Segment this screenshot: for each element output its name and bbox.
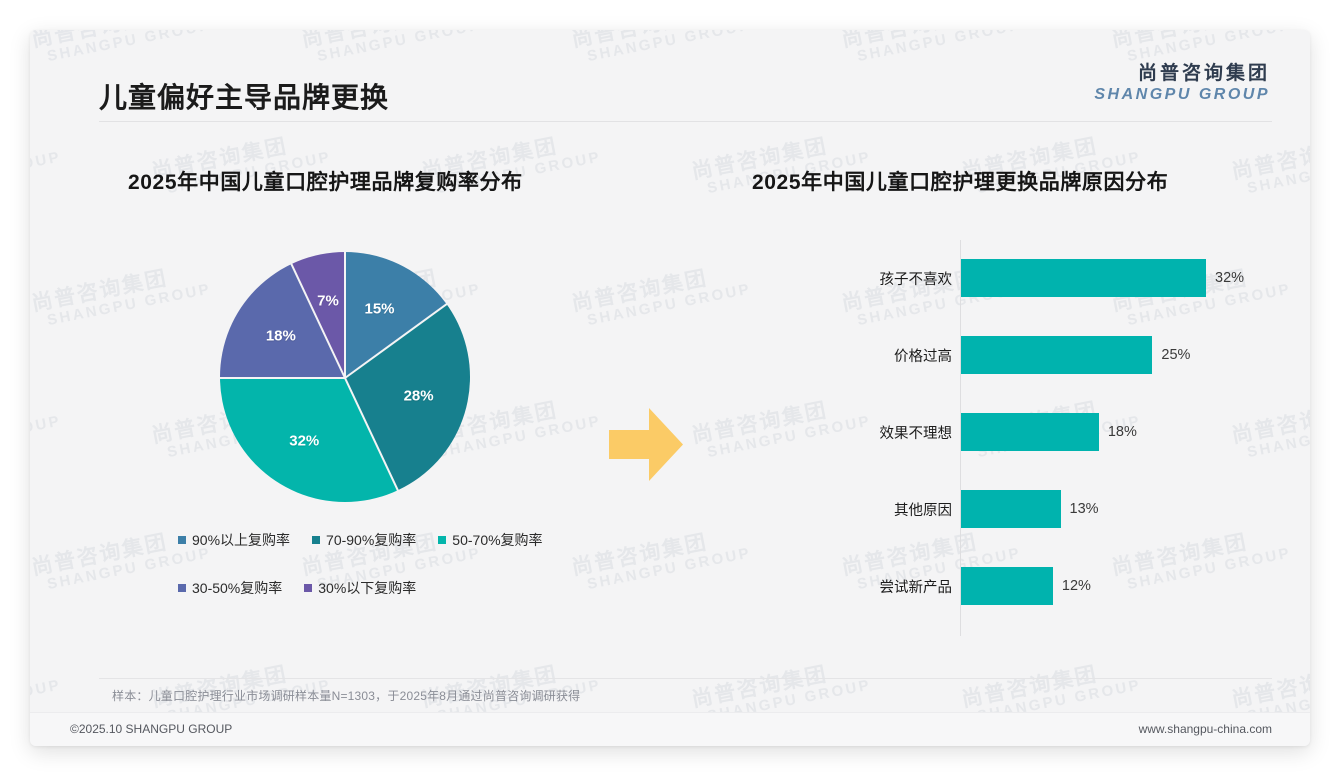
bar-fill[interactable]: [961, 336, 1152, 374]
legend-label: 50-70%复购率: [452, 530, 542, 550]
legend-color-swatch: [438, 536, 446, 544]
legend-label: 70-90%复购率: [326, 530, 416, 550]
bar-chart-row: 尝试新产品12%: [920, 566, 1290, 606]
pie-legend-row: 30-50%复购率30%以下复购率: [178, 578, 618, 598]
pie-legend: 90%以上复购率70-90%复购率50-70%复购率30-50%复购率30%以下…: [178, 530, 618, 626]
bar-category-label: 孩子不喜欢: [792, 268, 952, 289]
slide-body: 2025年中国儿童口腔护理品牌复购率分布 15%28%32%18%7% 90%以…: [30, 122, 1310, 682]
pie-chart: 15%28%32%18%7%: [220, 252, 470, 502]
logo-english-text: SHANGPU GROUP: [1094, 86, 1270, 104]
bar-chart-row: 其他原因13%: [920, 489, 1290, 529]
bar-chart: 孩子不喜欢32%价格过高25%效果不理想18%其他原因13%尝试新产品12%: [920, 240, 1290, 640]
legend-color-swatch: [312, 536, 320, 544]
bar-fill[interactable]: [961, 490, 1061, 528]
footer-website: www.shangpu-china.com: [1139, 722, 1272, 736]
pie-legend-item[interactable]: 50-70%复购率: [438, 530, 542, 550]
brand-logo: 尚普咨询集团 SHANGPU GROUP: [1094, 58, 1270, 104]
bar-value-label: 13%: [1070, 501, 1099, 517]
note-divider: [99, 678, 1272, 679]
bar-value-label: 18%: [1108, 424, 1137, 440]
header-divider: [99, 121, 1272, 122]
pie-legend-item[interactable]: 70-90%复购率: [312, 530, 416, 550]
pie-slice-label: 32%: [289, 433, 319, 450]
bar-category-label: 其他原因: [792, 499, 952, 520]
bar-chart-title: 2025年中国儿童口腔护理更换品牌原因分布: [752, 166, 1168, 196]
sample-note: 样本：儿童口腔护理行业市场调研样本量N=1303，于2025年8月通过尚普咨询调…: [112, 687, 580, 704]
bar-fill[interactable]: [961, 567, 1053, 605]
bar-category-label: 尝试新产品: [792, 576, 952, 597]
bar-category-label: 效果不理想: [792, 422, 952, 443]
pie-legend-item[interactable]: 30-50%复购率: [178, 578, 282, 598]
bar-value-label: 12%: [1062, 578, 1091, 594]
legend-color-swatch: [304, 584, 312, 592]
legend-label: 30%以下复购率: [318, 578, 416, 598]
slide-header: 儿童偏好主导品牌更换 尚普咨询集团 SHANGPU GROUP: [30, 30, 1310, 122]
legend-label: 90%以上复购率: [192, 530, 290, 550]
bar-fill[interactable]: [961, 259, 1206, 297]
legend-color-swatch: [178, 536, 186, 544]
logo-chinese-text: 尚普咨询集团: [1094, 58, 1270, 85]
pie-chart-title: 2025年中国儿童口腔护理品牌复购率分布: [128, 166, 523, 196]
slide-card: 尚普咨询集团SHANGPU GROUP尚普咨询集团SHANGPU GROUP尚普…: [30, 30, 1310, 746]
pie-slice-label: 28%: [404, 387, 434, 404]
bar-chart-row: 效果不理想18%: [920, 412, 1290, 452]
bar-value-label: 25%: [1161, 347, 1190, 363]
pie-slice-label: 15%: [364, 301, 394, 318]
pie-slice-label: 18%: [266, 328, 296, 345]
legend-color-swatch: [178, 584, 186, 592]
bar-fill[interactable]: [961, 413, 1099, 451]
pie-slice-label: 7%: [317, 292, 339, 309]
bar-category-label: 价格过高: [792, 345, 952, 366]
pie-slice-divider: [218, 377, 345, 379]
footer-copyright: ©2025.10 SHANGPU GROUP: [70, 722, 232, 736]
page-title: 儿童偏好主导品牌更换: [99, 76, 389, 116]
slide-footer: ©2025.10 SHANGPU GROUP www.shangpu-china…: [30, 712, 1310, 746]
bar-chart-row: 价格过高25%: [920, 335, 1290, 375]
bar-value-label: 32%: [1215, 270, 1244, 286]
legend-label: 30-50%复购率: [192, 578, 282, 598]
pie-legend-item[interactable]: 90%以上复购率: [178, 530, 290, 550]
pie-slice-divider: [344, 251, 346, 378]
pie-legend-row: 90%以上复购率70-90%复购率50-70%复购率: [178, 530, 618, 550]
pie-legend-item[interactable]: 30%以下复购率: [304, 578, 416, 598]
arrow-right-icon: [605, 402, 687, 487]
bar-chart-row: 孩子不喜欢32%: [920, 258, 1290, 298]
